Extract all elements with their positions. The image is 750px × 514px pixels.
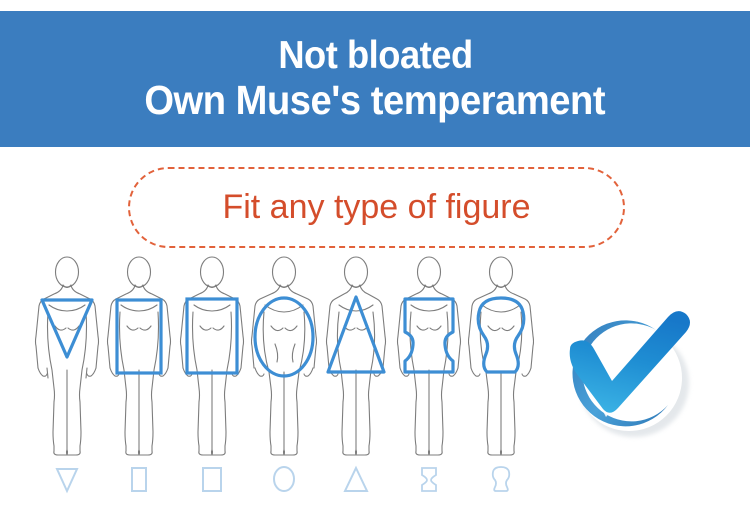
fit-callout-text: Fit any type of figure — [222, 188, 530, 227]
female-body-outline-icon — [34, 252, 100, 457]
female-body-outline-icon — [251, 252, 317, 457]
body-type-inverted-triangle — [34, 252, 100, 502]
body-type-hourglass-angular — [396, 252, 462, 502]
promo-image-root: Not bloated Own Muse's temperament Fit a… — [0, 0, 750, 514]
glyph-rectangle-wide-icon — [179, 457, 245, 499]
female-body-outline-icon — [323, 252, 389, 457]
body-type-hourglass-round — [468, 252, 534, 502]
body-type-figure-row — [34, 252, 534, 502]
blue-checkmark-badge-icon — [548, 297, 710, 457]
headline-line-2: Own Muse's temperament — [145, 79, 606, 122]
glyph-oval-icon — [251, 457, 317, 499]
glyph-rectangle-narrow-icon — [106, 457, 172, 499]
headline-line-1: Not bloated — [278, 35, 472, 76]
glyph-inverted-triangle-icon — [34, 457, 100, 499]
fit-callout-box: Fit any type of figure — [128, 167, 625, 248]
body-type-rectangle-narrow — [106, 252, 172, 502]
female-body-outline-icon — [396, 252, 462, 457]
female-body-outline-icon — [468, 252, 534, 457]
glyph-triangle-icon — [323, 457, 389, 499]
female-body-outline-icon — [106, 252, 172, 457]
glyph-hourglass-round-icon — [468, 457, 534, 499]
body-type-rectangle-wide — [179, 252, 245, 502]
body-type-triangle — [323, 252, 389, 502]
headline-banner: Not bloated Own Muse's temperament — [0, 11, 750, 147]
female-body-outline-icon — [179, 252, 245, 457]
glyph-hourglass-angular-icon — [396, 457, 462, 499]
body-type-oval — [251, 252, 317, 502]
